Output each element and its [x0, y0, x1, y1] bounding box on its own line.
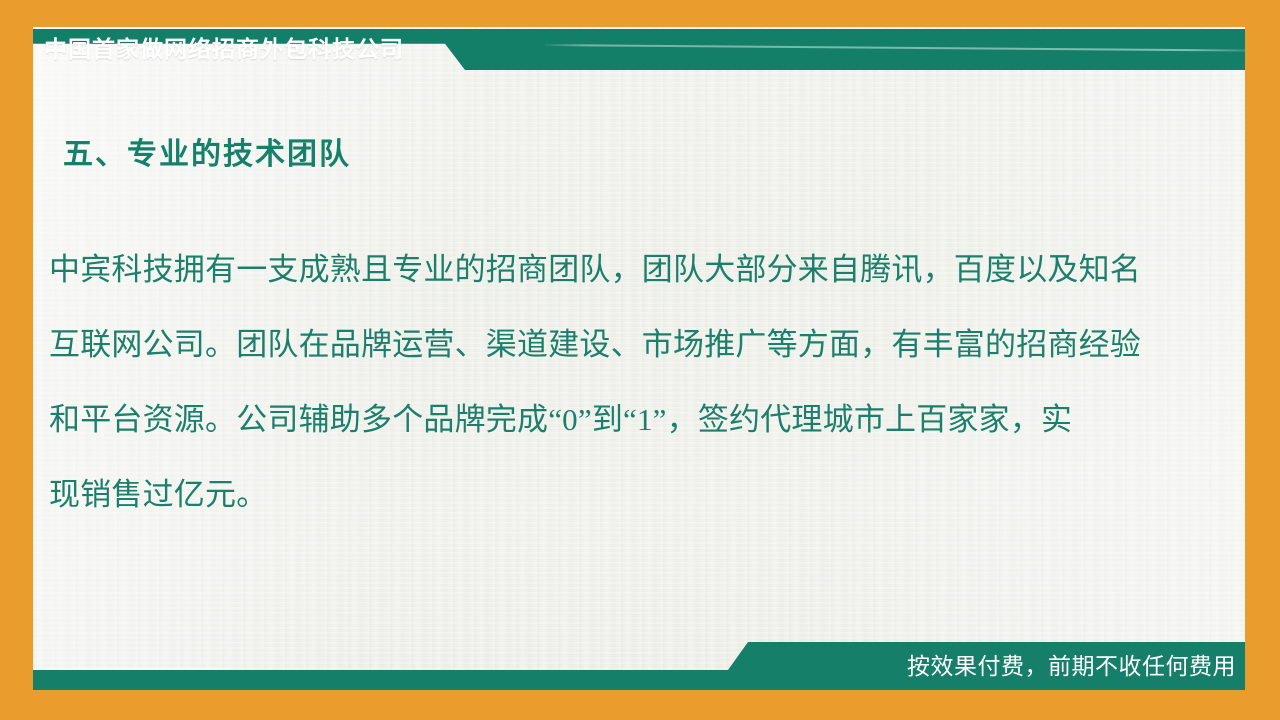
- footer-accent-line: [35, 668, 235, 670]
- header-title: 中国首家做网络招商外包科技公司: [44, 34, 404, 65]
- body-paragraph: 中宾科技拥有一支成熟且专业的招商团队，团队大部分来自腾讯，百度以及知名 互联网公…: [49, 232, 1184, 532]
- paragraph-line: 和平台资源。公司辅助多个品牌完成“0”到“1”，签约代理城市上百家家，实: [49, 382, 1184, 457]
- paragraph-line: 中宾科技拥有一支成熟且专业的招商团队，团队大部分来自腾讯，百度以及知名: [49, 232, 1184, 307]
- footer-tagline: 按效果付费，前期不收任何费用: [907, 650, 1236, 682]
- paragraph-line: 现销售过亿元。: [49, 457, 1184, 532]
- presentation-slide: 中国首家做网络招商外包科技公司 五、专业的技术团队 中宾科技拥有一支成熟且专业的…: [0, 0, 1280, 720]
- paragraph-line: 互联网公司。团队在品牌运营、渠道建设、市场推广等方面，有丰富的招商经验: [49, 307, 1184, 382]
- section-heading: 五、专业的技术团队: [63, 134, 351, 176]
